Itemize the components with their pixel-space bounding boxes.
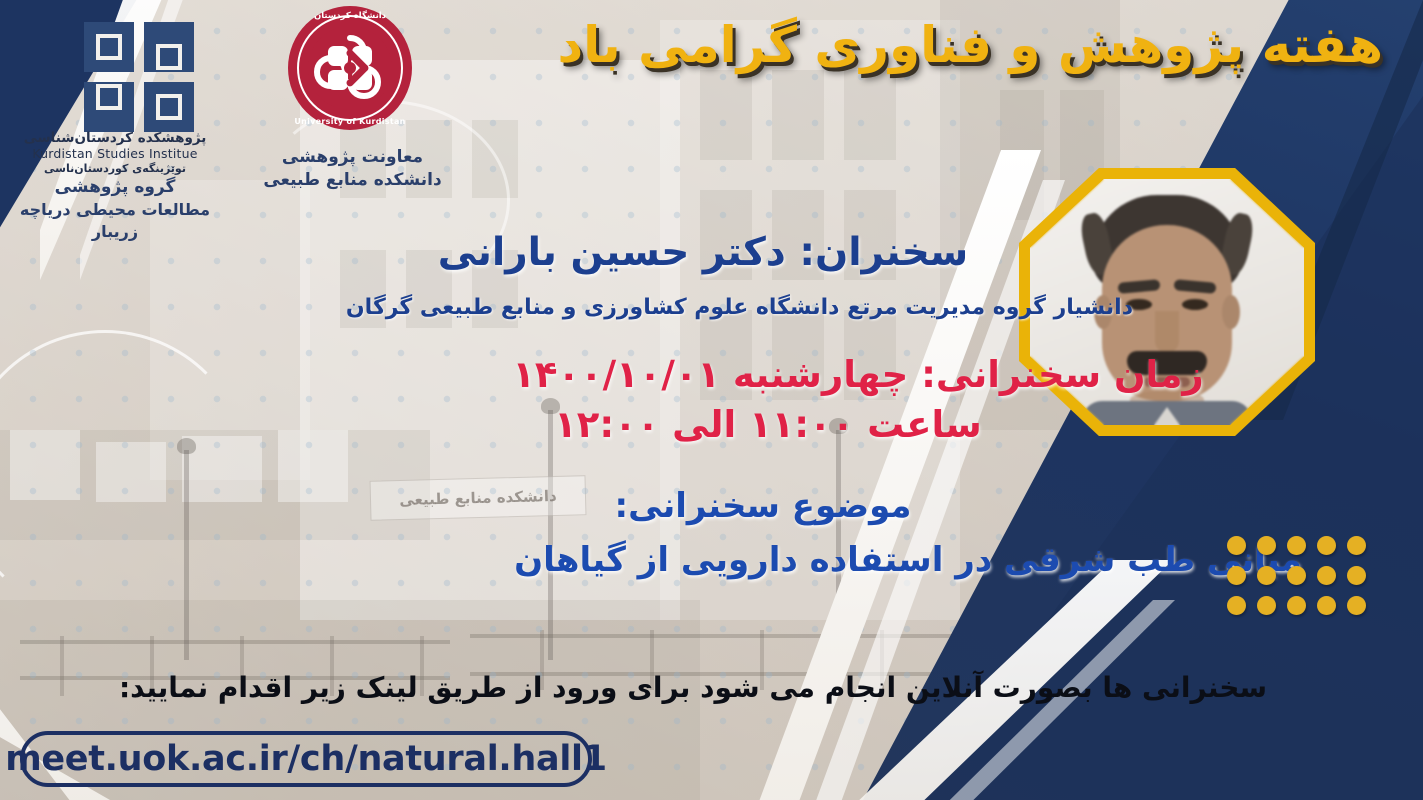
- uok-caption-line2: دانشکده منابع طبیعی: [255, 169, 450, 192]
- university-of-kurdistan-seal-icon: دانشگاه کردستان University of Kurdistan: [288, 6, 412, 130]
- online-instructions: سخنرانی ها بصورت آنلاین انجام می شود برا…: [113, 673, 1273, 702]
- dot: [1257, 536, 1276, 555]
- meeting-url[interactable]: meet.uok.ac.ir/ch/natural.hall1: [5, 739, 607, 779]
- dot: [1227, 596, 1246, 615]
- event-poster: دانشکده منابع طبیعی پژوهشکده کردستان‌شنا…: [0, 0, 1423, 800]
- ksi-name-ku: توێژینگەی کوردستان‌ناسی: [0, 162, 230, 175]
- ksi-name-fa: پژوهشکده کردستان‌شناسی: [0, 130, 230, 146]
- kurdistan-studies-institute-logo-icon: [84, 22, 194, 132]
- uok-seal-top-text: دانشگاه کردستان: [288, 11, 412, 21]
- speaker-name: سخنران: دکتر حسین بارانی: [373, 233, 1033, 274]
- event-date: زمان سخنرانی: چهارشنبه ۱۴۰۰/۱۰/۰۱: [443, 356, 1273, 395]
- dot: [1287, 536, 1306, 555]
- ksi-name-en: Kurdistan Studies Institue: [0, 146, 230, 161]
- gold-dot-grid: [1216, 536, 1366, 626]
- ksi-caption: پژوهشکده کردستان‌شناسی Kurdistan Studies…: [0, 130, 230, 175]
- dot: [1257, 566, 1276, 585]
- dot: [1347, 596, 1366, 615]
- meeting-link-pill[interactable]: meet.uok.ac.ir/ch/natural.hall1: [20, 731, 592, 787]
- dot: [1287, 596, 1306, 615]
- dot: [1317, 566, 1336, 585]
- uok-caption-line1: معاونت پژوهشی: [255, 146, 450, 169]
- dot: [1227, 536, 1246, 555]
- dot: [1347, 566, 1366, 585]
- uok-seal-bottom-text: University of Kurdistan: [288, 117, 412, 126]
- uok-caption: معاونت پژوهشی دانشکده منابع طبیعی: [255, 146, 450, 192]
- research-group-name: مطالعات محیطی دریاچه زریبار: [0, 199, 230, 242]
- uok-knot-icon: [314, 32, 386, 104]
- topic-label: موضوع سخنرانی:: [433, 489, 1093, 525]
- event-time: ساعت ۱۱:۰۰ الی ۱۲:۰۰: [443, 406, 1093, 445]
- dot: [1317, 536, 1336, 555]
- research-group-label: گروه پژوهشی: [0, 176, 230, 199]
- poster-headline: هفته پژوهش و فناوری گرامی باد: [593, 20, 1383, 70]
- research-group-caption: گروه پژوهشی مطالعات محیطی دریاچه زریبار: [0, 176, 230, 242]
- dot: [1317, 596, 1336, 615]
- dot: [1287, 566, 1306, 585]
- dot: [1257, 596, 1276, 615]
- speaker-affiliation: دانشیار گروه مدیریت مرتع دانشگاه علوم کش…: [373, 296, 1133, 320]
- dot: [1347, 536, 1366, 555]
- dot: [1227, 566, 1246, 585]
